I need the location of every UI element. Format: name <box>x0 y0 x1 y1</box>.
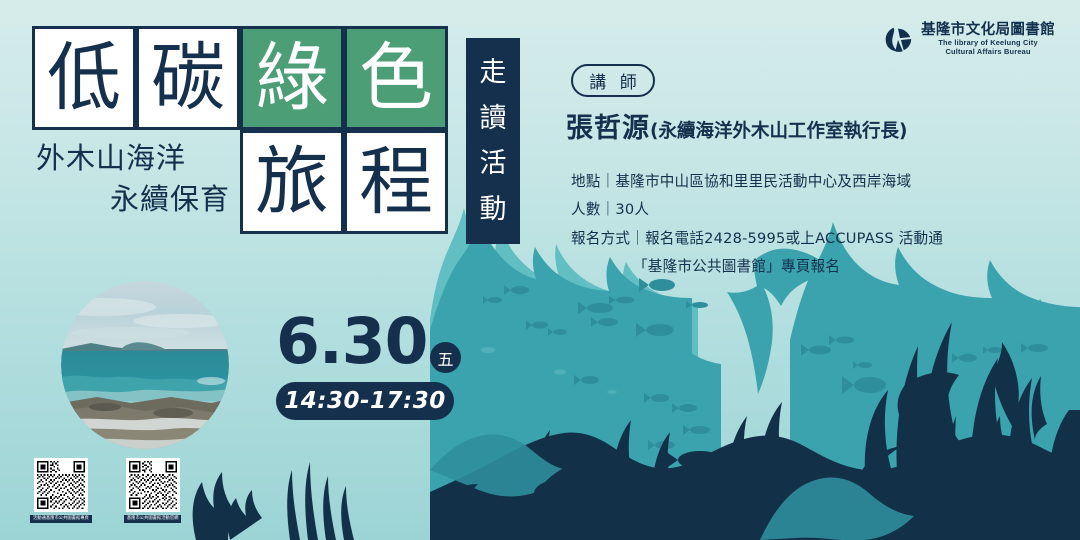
title-tile-4: 色 <box>344 26 448 130</box>
info-registration-cont: 「基隆市公共圖書館」專頁報名 <box>571 253 1041 281</box>
qr-item-library[interactable]: 基隆市公共圖書館活動官網 <box>124 458 182 523</box>
qr-code-group: 活動通基隆市公共圖書館專頁 <box>30 458 181 523</box>
library-site-qr[interactable] <box>126 458 180 512</box>
vertical-activity-banner: 走 讀 活 動 <box>466 38 520 244</box>
vbanner-char-2: 讀 <box>480 105 507 132</box>
subtitle-line2: 永續保育 <box>32 179 232 220</box>
vbanner-char-4: 動 <box>480 196 507 223</box>
library-site-qr-icon <box>129 461 177 509</box>
qr-caption-accupass: 活動通基隆市公共圖書館專頁 <box>30 515 92 523</box>
logo-name-en-line1: The library of Keelung City <box>938 39 1037 46</box>
poster-subtitle: 外木山海洋 永續保育 <box>32 138 232 220</box>
qr-caption-library: 基隆市公共圖書館活動官網 <box>124 515 182 523</box>
accupass-qr-icon <box>37 461 85 509</box>
title-tile-1: 低 <box>32 26 136 130</box>
event-info: 地點｜基隆市中山區協和里里民活動中心及西岸海域 人數｜30人 報名方式｜報名電話… <box>571 168 1041 282</box>
poster-title: 低 碳 綠 色 旅 程 外木山海洋 永續保育 <box>32 26 452 256</box>
title-tile-3: 綠 <box>240 26 344 130</box>
keelung-library-logo-icon <box>884 24 914 54</box>
title-tile-2: 碳 <box>136 26 240 130</box>
title-tile-6: 程 <box>344 130 448 234</box>
event-weekday: 五 <box>430 342 461 373</box>
library-logo: 基隆市文化局圖書館 The library of Keelung City Cu… <box>884 16 1070 62</box>
poster-root: 基隆市文化局圖書館 The library of Keelung City Cu… <box>0 0 1080 540</box>
coastal-photo <box>61 281 229 449</box>
speaker-line: 張哲源(永續海洋外木山工作室執行長) <box>566 106 996 145</box>
subtitle-line1: 外木山海洋 <box>32 138 232 179</box>
coastal-photo-image <box>61 281 229 449</box>
logo-name-en-line2: Cultural Affairs Bureau <box>945 48 1030 55</box>
speaker-badge: 講 師 <box>571 64 655 97</box>
vbanner-char-1: 走 <box>480 59 507 86</box>
info-capacity: 人數｜30人 <box>571 196 1041 224</box>
event-time: 14:30-17:30 <box>276 382 454 420</box>
title-tile-5: 旅 <box>240 130 344 234</box>
vbanner-char-3: 活 <box>480 150 507 177</box>
speaker-role: (永續海洋外木山工作室執行長) <box>650 121 907 142</box>
accupass-qr[interactable] <box>34 458 88 512</box>
speaker-name: 張哲源 <box>566 113 650 144</box>
logo-name-cn: 基隆市文化局圖書館 <box>921 23 1055 38</box>
info-location: 地點｜基隆市中山區協和里里民活動中心及西岸海域 <box>571 168 1041 196</box>
qr-item-accupass[interactable]: 活動通基隆市公共圖書館專頁 <box>30 458 92 523</box>
info-registration: 報名方式｜報名電話2428-5995或上ACCUPASS 活動通 <box>571 225 1041 253</box>
